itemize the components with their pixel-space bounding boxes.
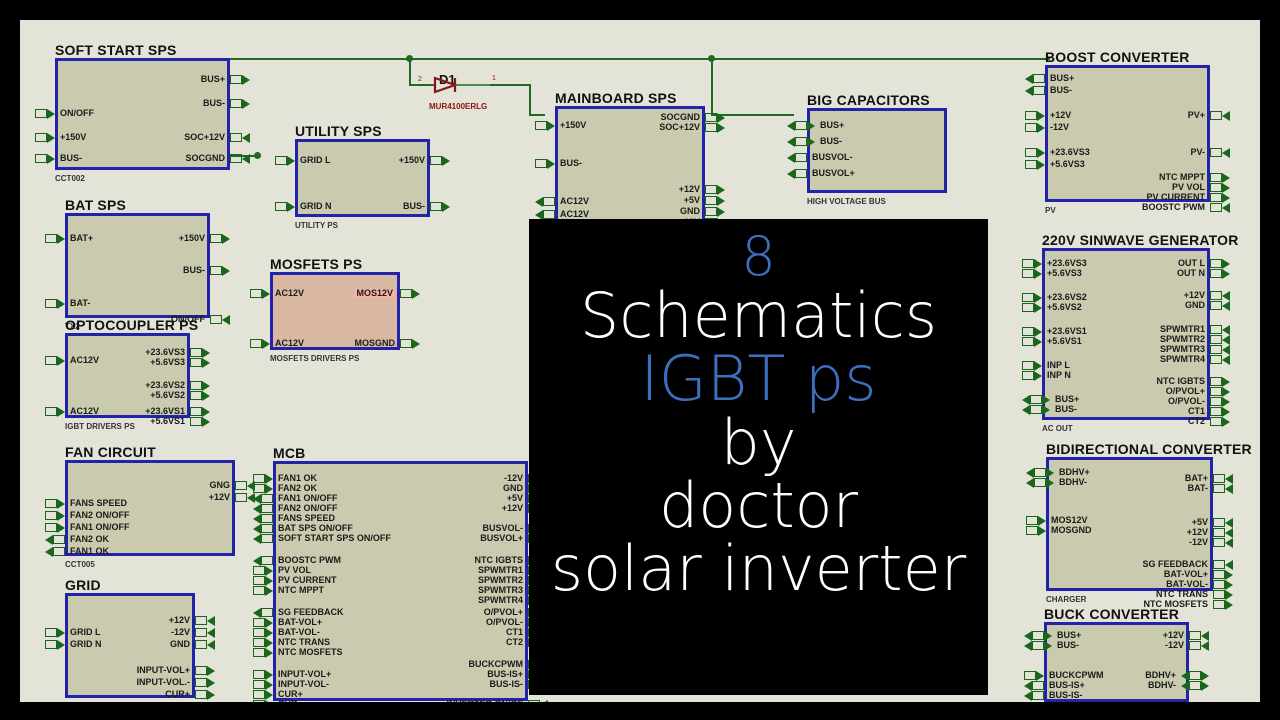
pin-arrow-icon xyxy=(1025,86,1033,96)
pin-box-icon xyxy=(210,315,222,324)
pin-box-icon xyxy=(795,121,807,130)
pin-label: BUS- xyxy=(1057,641,1079,650)
pin-soc-12v[interactable]: SOC+12V xyxy=(184,132,250,143)
pin-box-icon xyxy=(53,547,65,556)
pin-busvol[interactable]: BUSVOL+ xyxy=(787,168,855,179)
pin-bus[interactable]: BUS- xyxy=(35,153,82,164)
pin-arrow-icon xyxy=(547,159,555,169)
pin-arrow-icon xyxy=(207,690,215,700)
pin-bat[interactable]: BAT- xyxy=(45,298,90,309)
pin-arrow-icon xyxy=(1044,641,1052,651)
pin-bus[interactable]: BUS- xyxy=(1025,85,1072,96)
pin-cur[interactable]: CUR+ xyxy=(165,689,215,700)
pin-box-icon xyxy=(1210,355,1222,364)
pin-box-icon xyxy=(1210,259,1222,268)
pin-label: GND xyxy=(680,207,700,216)
pin-ntc-mppt[interactable]: NTC MPPT xyxy=(253,585,324,596)
pin-cur[interactable]: CUR- xyxy=(253,699,301,702)
pin-box-icon xyxy=(1210,397,1222,406)
diode-pin-2-label: 2 xyxy=(418,76,422,83)
pin-box-icon xyxy=(35,154,47,163)
pin-box-icon xyxy=(1026,516,1038,525)
pin-label: MOS12V xyxy=(1051,516,1088,525)
block-sinwave-generator[interactable]: 220V SINWAVE GENERATORAC OUT+23.6VS3+5.6… xyxy=(1042,248,1210,420)
pin-ct2[interactable]: CT2 xyxy=(1188,416,1230,427)
pin-150v[interactable]: +150V xyxy=(535,120,586,131)
pin-5-6vs3[interactable]: +5.6VS3 xyxy=(1022,268,1082,279)
pin-12v[interactable]: -12V xyxy=(1189,537,1233,548)
pin-12v[interactable]: +12V xyxy=(209,492,255,503)
pin-arrow-icon xyxy=(207,666,215,676)
pin-box-icon xyxy=(253,566,265,575)
pin-grid-n[interactable]: GRID N xyxy=(45,639,102,650)
pin-label: GRID N xyxy=(300,202,332,211)
pin-150v[interactable]: +150V xyxy=(35,132,86,143)
pin-arrow-icon xyxy=(1024,691,1032,701)
block-grid[interactable]: GRIDGRIDGRID LGRID N+12V-12VGNDINPUT-VOL… xyxy=(65,593,195,698)
pin-box-icon xyxy=(230,154,242,163)
pin-mosgnd[interactable]: MOSGND xyxy=(1026,525,1092,536)
pin-box-icon xyxy=(45,523,57,532)
pin-label: +5.6VS3 xyxy=(150,358,185,367)
pin-label: AC12V xyxy=(275,289,304,298)
pin-arrow-icon xyxy=(535,197,543,207)
pin-label: NTC IGBTS xyxy=(475,556,524,565)
pin-arrow-icon xyxy=(202,348,210,358)
pin-23-6vs3[interactable]: +23.6VS3 xyxy=(1025,147,1090,158)
pin-label: BOOSTC PWM xyxy=(278,556,341,565)
pin-bus[interactable]: BUS+ xyxy=(787,120,844,131)
pin-label: BUS-IS- xyxy=(1049,691,1083,700)
pin-arrow-icon xyxy=(1034,293,1042,303)
pin-input-vol[interactable]: INPUT-VOL+ xyxy=(137,665,215,676)
pin-label: SPWMTR4 xyxy=(478,596,523,605)
pin-label: CUR- xyxy=(278,700,301,702)
pin-box-icon xyxy=(1210,345,1222,354)
pin-box-icon xyxy=(210,266,222,275)
pin-label: NTC TRANS xyxy=(1156,590,1208,599)
pin-on-off[interactable]: ON/OFF xyxy=(35,108,94,119)
pin-label: BDHV- xyxy=(1059,478,1087,487)
pin-pv[interactable]: PV- xyxy=(1190,147,1230,158)
pin-box-icon xyxy=(1030,405,1042,414)
pin-ac12v[interactable]: AC12V xyxy=(250,288,304,299)
pin-box-icon xyxy=(1034,468,1046,477)
pin-bus[interactable]: BUS- xyxy=(183,265,230,276)
pin-box-icon xyxy=(190,417,202,426)
pin-label: +12V xyxy=(679,185,700,194)
pin-label: CT1 xyxy=(1188,407,1205,416)
pin-bus[interactable]: BUS- xyxy=(403,201,450,212)
pin-label: BUS-IS- xyxy=(490,680,524,689)
pin-gnd[interactable]: GND xyxy=(170,639,215,650)
pin-arrow-icon xyxy=(265,586,273,596)
pin-inverter-on-of[interactable]: INVERTER ON/OF xyxy=(446,699,548,702)
block-optocoupler-ps[interactable]: OPTOCOUPLER PSIGBT DRIVERS PSAC12VAC12V+… xyxy=(65,333,190,418)
pin-ac12v[interactable]: AC12V xyxy=(45,406,99,417)
pin-arrow-icon xyxy=(47,109,55,119)
pin-5-6vs2[interactable]: +5.6VS2 xyxy=(150,390,210,401)
pin-label: BAT-VOL- xyxy=(278,628,320,637)
pin-label: PV CURRENT xyxy=(278,576,337,585)
pin-12v[interactable]: +12V xyxy=(1025,110,1071,121)
pin-box-icon xyxy=(1189,641,1201,650)
pin-bus[interactable]: BUS+ xyxy=(201,74,250,85)
pin-soc-12v[interactable]: SOC+12V xyxy=(659,122,725,133)
pin-box-icon xyxy=(1022,371,1034,380)
diode-part-number: MUR4100ERLG xyxy=(429,102,487,111)
pin-label: +23.6VS1 xyxy=(145,407,185,416)
pin-box-icon xyxy=(528,700,540,702)
pin-label: BUCKCPWM xyxy=(469,660,524,669)
pin-label: O/PVOL+ xyxy=(1166,387,1205,396)
pin-arrow-icon xyxy=(787,153,795,163)
pin-fan2-on-off[interactable]: FAN2 ON/OFF xyxy=(45,510,130,521)
pin-ac12v[interactable]: AC12V xyxy=(45,355,99,366)
pin-arrow-icon xyxy=(265,618,273,628)
pin-label: O/PVOL- xyxy=(1168,397,1205,406)
block-reference: HIGH VOLTAGE BUS xyxy=(807,197,886,206)
pin-bus[interactable]: BUS- xyxy=(1024,640,1079,651)
pin-label: BUS- xyxy=(183,266,205,275)
pin-soft-start-sps-on-off[interactable]: SOFT START SPS ON/OFF xyxy=(253,533,391,544)
pin-label: NTC TRANS xyxy=(278,638,330,647)
pin-gng[interactable]: GNG xyxy=(209,480,255,491)
pin-label: GRID N xyxy=(70,640,102,649)
pin-arrow-icon xyxy=(57,523,65,533)
block-reference: CCT005 xyxy=(65,560,95,569)
pin-box-icon xyxy=(195,690,207,699)
pin-box-icon xyxy=(1213,580,1225,589)
pin-label: -12V xyxy=(171,628,190,637)
pin-arrow-icon xyxy=(547,121,555,131)
pin-box-icon xyxy=(250,289,262,298)
pin-label: GNG xyxy=(209,481,230,490)
pin-label: +23.6VS3 xyxy=(145,348,185,357)
pin-bus-is[interactable]: BUS-IS- xyxy=(1024,690,1083,701)
pin-arrow-icon xyxy=(57,511,65,521)
pin-arrow-icon xyxy=(442,202,450,212)
pin-bat[interactable]: BAT- xyxy=(1188,483,1233,494)
pin-5-6vs1[interactable]: +5.6VS1 xyxy=(150,416,210,427)
pin-label: BAT- xyxy=(70,299,90,308)
pin-arrow-icon xyxy=(1181,671,1189,681)
pin-box-icon xyxy=(261,514,273,523)
pin-mosgnd[interactable]: MOSGND xyxy=(355,338,421,349)
pin-ntc-mosfets[interactable]: NTC MOSFETS xyxy=(253,647,343,658)
pin-label: +12V xyxy=(1163,631,1184,640)
pin-label: BDHV- xyxy=(1148,681,1176,690)
pin-bus[interactable]: BUS- xyxy=(203,98,250,109)
pin-arrow-icon xyxy=(1026,468,1034,478)
pin-box-icon xyxy=(1213,528,1225,537)
block-reference: AC OUT xyxy=(1042,424,1073,433)
pin-box-icon xyxy=(1025,123,1037,132)
block-mosfets-ps[interactable]: MOSFETS PSMOSFETS DRIVERS PSAC12VAC12VMO… xyxy=(270,272,400,350)
pin-arrow-icon xyxy=(207,702,215,703)
pin-label: FAN2 ON/OFF xyxy=(278,504,338,513)
pin-arrow-icon xyxy=(1201,681,1209,691)
block-utility-sps[interactable]: UTILITY SPSUTILITY PSGRID LGRID N+150VBU… xyxy=(295,139,430,217)
pin-12v[interactable]: -12V xyxy=(1165,640,1209,651)
pin-box-icon xyxy=(1213,538,1225,547)
overlay-line-1: 8 xyxy=(741,229,775,284)
pin-bdhv[interactable]: BDHV- xyxy=(1026,477,1087,488)
pin-box-icon xyxy=(1210,417,1222,426)
pin-label: INPUT-VOL.- xyxy=(137,678,191,687)
pin-pv[interactable]: PV+ xyxy=(1188,110,1230,121)
block-bat-sps[interactable]: BAT SPSTX2BAT+BAT-+150VBUS-ON/OFF xyxy=(65,213,210,318)
pin-box-icon xyxy=(795,153,807,162)
pin-label: -12V xyxy=(504,474,523,483)
pin-boostc-pwm[interactable]: BOOSTC PWM xyxy=(1142,202,1230,213)
pin-cur[interactable]: CUR- xyxy=(168,701,216,702)
pin-inp-n[interactable]: INP N xyxy=(1022,370,1071,381)
pin-box-icon xyxy=(543,210,555,219)
pin-box-icon xyxy=(1210,148,1222,157)
pin-label: GND xyxy=(1185,301,1205,310)
pin-box-icon xyxy=(253,700,265,702)
pin-box-icon xyxy=(535,159,547,168)
pin-box-icon xyxy=(705,196,717,205)
pin-arrow-icon xyxy=(1222,377,1230,387)
pin-label: +150V xyxy=(399,156,425,165)
pin-box-icon xyxy=(1210,173,1222,182)
pin-box-icon xyxy=(261,608,273,617)
pin-box-icon xyxy=(1030,395,1042,404)
pin-arrow-icon xyxy=(1225,600,1233,610)
pin-arrow-icon xyxy=(45,535,53,545)
pin-arrow-icon xyxy=(202,391,210,401)
pin-fans-speed[interactable]: FANS SPEED xyxy=(45,498,127,509)
pin-label: OUT N xyxy=(1177,269,1205,278)
pin-box-icon xyxy=(35,109,47,118)
pin-5v[interactable]: +5V xyxy=(684,195,725,206)
schematic-screenshot: D1 MUR4100ERLG 2 1 SOFT START SPSCCT002O… xyxy=(0,0,1280,720)
pin-bus[interactable]: BUS- xyxy=(787,136,842,147)
pin-box-icon xyxy=(275,202,287,211)
pin-box-icon xyxy=(190,407,202,416)
pin-arrow-icon xyxy=(202,417,210,427)
pin-label: +5.6VS1 xyxy=(1047,337,1082,346)
pin-arrow-icon xyxy=(57,640,65,650)
pin-label: BUSVOL+ xyxy=(480,534,523,543)
pin-box-icon xyxy=(261,504,273,513)
pin-bus[interactable]: BUS+ xyxy=(1025,73,1074,84)
pin-spwmtr4[interactable]: SPWMTR4 xyxy=(1160,354,1230,365)
pin-busvol[interactable]: BUSVOL- xyxy=(787,152,853,163)
pin-label: SPWMTR1 xyxy=(1160,325,1205,334)
pin-arrow-icon xyxy=(1222,291,1230,301)
pin-box-icon xyxy=(1210,407,1222,416)
pin-12v[interactable]: -12V xyxy=(1025,122,1069,133)
pin-label: SOCGND xyxy=(185,154,225,163)
pin-150v[interactable]: +150V xyxy=(399,155,450,166)
pin-arrow-icon xyxy=(1042,395,1050,405)
pin-arrow-icon xyxy=(787,169,795,179)
block-title: MCB xyxy=(273,445,305,461)
pin-arrow-icon xyxy=(253,534,261,544)
pin-label: BUS-IS+ xyxy=(1049,681,1085,690)
pin-arrow-icon xyxy=(1225,580,1233,590)
pin-5-6vs2[interactable]: +5.6VS2 xyxy=(1022,302,1082,313)
pin-gnd[interactable]: GND xyxy=(1185,300,1230,311)
pin-box-icon xyxy=(543,197,555,206)
pin-fan1-ok[interactable]: FAN1 OK xyxy=(45,546,109,557)
pin-box-icon xyxy=(253,618,265,627)
pin-label: FAN1 ON/OFF xyxy=(70,523,130,532)
pin-fan2-ok[interactable]: FAN2 OK xyxy=(45,534,109,545)
pin-box-icon xyxy=(1024,671,1036,680)
pin-box-icon xyxy=(1022,337,1034,346)
pin-label: BUS- xyxy=(203,99,225,108)
pin-mos12v[interactable]: MOS12V xyxy=(354,288,420,299)
pin-box-icon xyxy=(45,499,57,508)
block-big-capacitors[interactable]: BIG CAPACITORSHIGH VOLTAGE BUSBUS+BUS-BU… xyxy=(807,108,947,193)
pin-box-icon xyxy=(1033,86,1045,95)
pin-label: +12V xyxy=(169,616,190,625)
pin-arrow-icon xyxy=(787,121,795,131)
pin-label: MOSGND xyxy=(1051,526,1092,535)
overlay-line-4: by xyxy=(720,411,796,474)
block-fan-circuit[interactable]: FAN CIRCUITCCT005FANS SPEEDFAN2 ON/OFFFA… xyxy=(65,460,235,556)
pin-label: FANS SPEED xyxy=(70,499,127,508)
pin-arrow-icon xyxy=(265,638,273,648)
pin-grid-l[interactable]: GRID L xyxy=(275,155,331,166)
pin-arrow-icon xyxy=(1222,335,1230,345)
pin-box-icon xyxy=(45,640,57,649)
pin-gnd[interactable]: GND xyxy=(680,206,725,217)
pin-arrow-icon xyxy=(1024,631,1032,641)
pin-grid-l[interactable]: GRID L xyxy=(45,627,101,638)
pin-arrow-icon xyxy=(265,628,273,638)
block-soft-start-sps[interactable]: SOFT START SPSCCT002ON/OFF+150VBUS-BUS+B… xyxy=(55,58,230,170)
pin-label: BUSVOL- xyxy=(483,524,524,533)
pin-label: FAN1 ON/OFF xyxy=(278,494,338,503)
pin-label: +5.6VS2 xyxy=(150,391,185,400)
block-reference: CHARGER xyxy=(1046,595,1086,604)
wire-bus-top xyxy=(218,58,1050,60)
pin-arrow-icon xyxy=(1222,183,1230,193)
pin-label: BOOSTC PWM xyxy=(1142,203,1205,212)
pin-arrow-icon xyxy=(1225,528,1233,538)
pin-12v[interactable]: -12V xyxy=(171,627,215,638)
pin-label: BUS- xyxy=(1055,405,1077,414)
pin-arrow-icon xyxy=(1034,361,1042,371)
pin-arrow-icon xyxy=(242,133,250,143)
pin-arrow-icon xyxy=(287,202,295,212)
pin-bus[interactable]: BUS- xyxy=(1022,404,1077,415)
overlay-line-5: doctor xyxy=(659,474,858,537)
pin-box-icon xyxy=(1022,303,1034,312)
wire-d1-out xyxy=(490,84,530,86)
pin-bus[interactable]: BUS- xyxy=(535,158,582,169)
pin-5-6vs3[interactable]: +5.6VS3 xyxy=(150,357,210,368)
pin-label: BDHV+ xyxy=(1059,468,1090,477)
pin-5-6vs1[interactable]: +5.6VS1 xyxy=(1022,336,1082,347)
pin-arrow-icon xyxy=(412,289,420,299)
pin-label: FANS SPEED xyxy=(278,514,335,523)
block-mainboard-sps[interactable]: MAINBOARD SPSTX9+150VBUS-AC12VAC12VSOCGN… xyxy=(555,106,705,222)
pin-box-icon xyxy=(45,511,57,520)
pin-box-icon xyxy=(1022,327,1034,336)
pin-out-n[interactable]: OUT N xyxy=(1177,268,1230,279)
block-mcb[interactable]: MCBCBFAN1 OKFAN2 OKFAN1 ON/OFFFAN2 ON/OF… xyxy=(273,461,528,701)
pin-arrow-icon xyxy=(1181,681,1189,691)
block-buck-converter[interactable]: BUCK CONVERTERBALK VOLTAGE CONTROLBUS+BU… xyxy=(1044,622,1189,702)
pin-label: SOFT START SPS ON/OFF xyxy=(278,534,391,543)
pin-box-icon xyxy=(1034,478,1046,487)
pin-label: INPUT-VOL+ xyxy=(278,670,331,679)
pin-label: BUS- xyxy=(560,159,582,168)
pin-label: +5V xyxy=(507,494,523,503)
pin-box-icon xyxy=(1213,560,1225,569)
pin-arrow-icon xyxy=(1034,327,1042,337)
pin-arrow-icon xyxy=(265,680,273,690)
pin-label: BUSVOL+ xyxy=(812,169,855,178)
pin-box-icon xyxy=(400,339,412,348)
pin-arrow-icon xyxy=(1201,641,1209,651)
pin-arrow-icon xyxy=(1034,303,1042,313)
pin-label: CT2 xyxy=(1188,417,1205,426)
pin-label: FAN1 OK xyxy=(70,547,109,556)
block-reference: IGBT DRIVERS PS xyxy=(65,422,135,431)
pin-arrow-icon xyxy=(1222,301,1230,311)
pin-arrow-icon xyxy=(1034,371,1042,381)
pin-box-icon xyxy=(45,234,57,243)
pin-ac12v[interactable]: AC12V xyxy=(250,338,304,349)
pin-label: NTC MPPT xyxy=(1159,173,1205,182)
pin-label: BAT-VOL+ xyxy=(278,618,322,627)
pin-box-icon xyxy=(1210,335,1222,344)
pin-bat[interactable]: BAT+ xyxy=(45,233,93,244)
pin-12v[interactable]: +12V xyxy=(169,615,215,626)
diode-pin-1-label: 1 xyxy=(492,75,496,82)
pin-fan1-on-off[interactable]: FAN1 ON/OFF xyxy=(45,522,130,533)
pin-input-vol[interactable]: INPUT-VOL.- xyxy=(137,677,216,688)
pin-label: BUCKCPWM xyxy=(1049,671,1104,680)
pin-150v[interactable]: +150V xyxy=(179,233,230,244)
pin-arrow-icon xyxy=(45,547,53,557)
pin-label: NTC MPPT xyxy=(278,586,324,595)
pin-arrow-icon xyxy=(1222,203,1230,213)
pin-box-icon xyxy=(195,666,207,675)
pin-grid-n[interactable]: GRID N xyxy=(275,201,332,212)
pin-5-6vs3[interactable]: +5.6VS3 xyxy=(1025,159,1085,170)
pin-box-icon xyxy=(275,156,287,165)
pin-box-icon xyxy=(253,670,265,679)
pin-bdhv[interactable]: BDHV- xyxy=(1148,680,1209,691)
pin-box-icon xyxy=(795,137,807,146)
pin-box-icon xyxy=(1213,570,1225,579)
pin-arrow-icon xyxy=(1024,641,1032,651)
pin-box-icon xyxy=(253,638,265,647)
pin-arrow-icon xyxy=(1225,474,1233,484)
pin-arrow-icon xyxy=(1222,111,1230,121)
pin-label: +5V xyxy=(684,196,700,205)
pin-ac12v[interactable]: AC12V xyxy=(535,196,589,207)
pin-arrow-icon xyxy=(1225,484,1233,494)
pin-arrow-icon xyxy=(1044,631,1052,641)
pin-arrow-icon xyxy=(1222,355,1230,365)
pin-arrow-icon xyxy=(202,381,210,391)
pin-box-icon xyxy=(1033,74,1045,83)
pin-12v[interactable]: +12V xyxy=(679,184,725,195)
pin-socgnd[interactable]: SOCGND xyxy=(185,153,250,164)
block-boost-converter[interactable]: BOOST CONVERTERPVBUS+BUS-+12V-12V+23.6VS… xyxy=(1045,65,1210,202)
pin-arrow-icon xyxy=(57,628,65,638)
block-bidirectional-converter[interactable]: BIDIRECTIONAL CONVERTERCHARGERBDHV+BDHV-… xyxy=(1046,457,1213,591)
